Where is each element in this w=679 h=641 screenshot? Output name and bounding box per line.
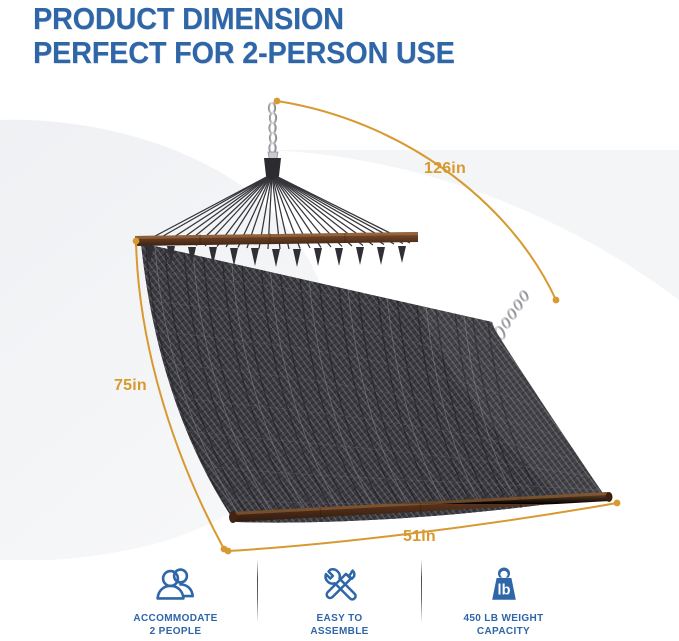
dim-line-75 xyxy=(136,241,224,549)
feature-easy-assemble-label: EASY TO ASSEMBLE xyxy=(310,613,368,638)
tools-icon xyxy=(319,563,361,607)
feature-accommodate-label: ACCOMMODATE 2 PEOPLE xyxy=(133,613,217,638)
feature-weight-capacity-line2: CAPACITY xyxy=(463,626,543,639)
feature-accommodate-line2: 2 PEOPLE xyxy=(133,626,217,639)
feature-strip: ACCOMMODATE 2 PEOPLE EASY TO xyxy=(0,559,679,641)
dimension-label-bed-length: 75in xyxy=(114,377,147,395)
title-line-2: PERFECT FOR 2-PERSON USE xyxy=(33,36,591,70)
feature-weight-capacity-line1: 450 LB WEIGHT xyxy=(463,613,543,626)
weight-lb-icon: lb xyxy=(484,563,524,607)
feature-easy-assemble: EASY TO ASSEMBLE xyxy=(272,559,407,638)
feature-weight-capacity-label: 450 LB WEIGHT CAPACITY xyxy=(463,613,543,638)
feature-divider-2 xyxy=(421,559,422,623)
weight-icon-badge-text: lb xyxy=(497,583,510,599)
feature-accommodate: ACCOMMODATE 2 PEOPLE xyxy=(108,559,243,638)
feature-easy-assemble-line2: ASSEMBLE xyxy=(310,626,368,639)
title-line-1: PRODUCT DIMENSION xyxy=(33,2,591,36)
feature-easy-assemble-line1: EASY TO xyxy=(310,613,368,626)
feature-accommodate-line1: ACCOMMODATE xyxy=(133,613,217,626)
dimension-lines xyxy=(0,0,679,570)
dim-endpoints xyxy=(133,98,621,555)
two-people-icon xyxy=(155,563,197,607)
dimension-label-overall-length: 126in xyxy=(424,160,466,178)
infographic-canvas: PRODUCT DIMENSION PERFECT FOR 2-PERSON U… xyxy=(0,0,679,641)
dimension-label-bed-width: 51in xyxy=(403,528,436,546)
page-title: PRODUCT DIMENSION PERFECT FOR 2-PERSON U… xyxy=(33,2,633,70)
feature-weight-capacity: lb 450 LB WEIGHT CAPACITY xyxy=(436,559,571,638)
feature-divider-1 xyxy=(257,559,258,623)
dim-line-126 xyxy=(277,101,556,300)
